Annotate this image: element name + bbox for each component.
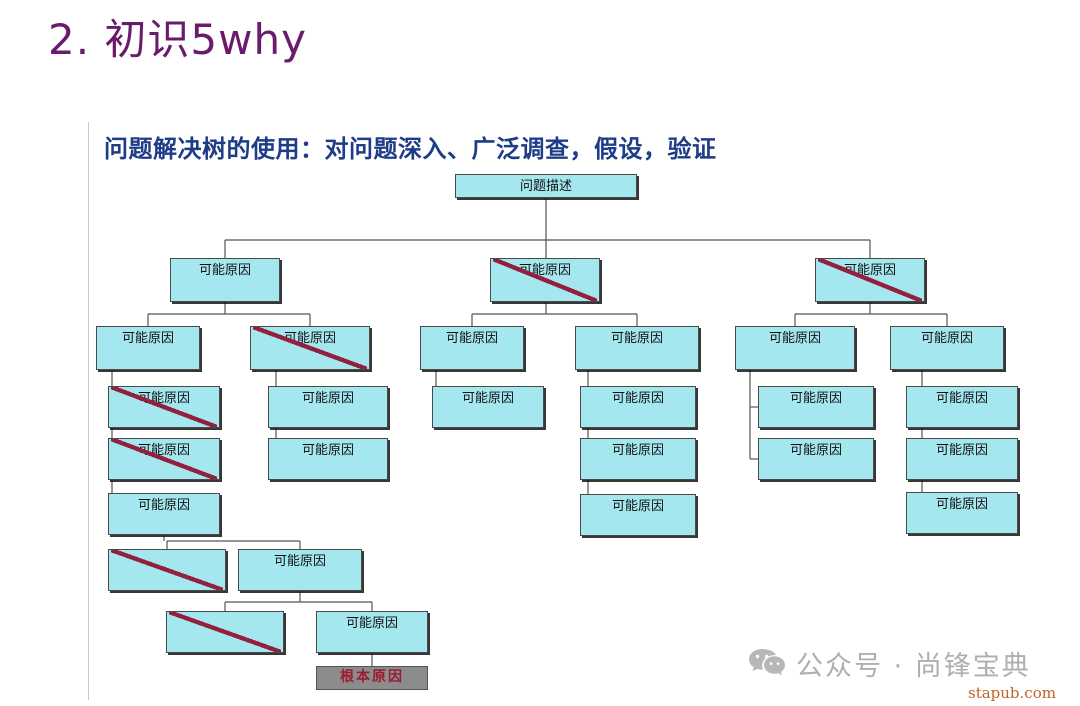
wechat-icon (748, 647, 786, 681)
node-label: 可能原因 (97, 331, 199, 346)
node-label: 可能原因 (421, 331, 523, 346)
possible-cause-node[interactable]: 可能原因 (170, 258, 280, 302)
node-label: 可能原因 (581, 443, 695, 458)
possible-cause-node[interactable]: 可能原因 (580, 494, 696, 536)
node-label: 可能原因 (907, 391, 1017, 406)
possible-cause-node[interactable]: 可能原因 (238, 549, 362, 591)
possible-cause-node[interactable]: 可能原因 (420, 326, 524, 370)
possible-cause-node[interactable]: 可能原因 (268, 438, 388, 480)
possible-cause-node[interactable]: 可能原因 (432, 386, 544, 428)
possible-cause-node[interactable]: 可能原因 (108, 493, 220, 535)
site-url-text: stapub.com (968, 684, 1056, 702)
possible-cause-node[interactable]: 可能原因 (316, 611, 428, 653)
node-label: 可能原因 (907, 443, 1017, 458)
node-label: 可能原因 (491, 263, 599, 278)
watermark: 公众号 · 尚锋宝典 (748, 644, 1031, 683)
node-label: 可能原因 (239, 554, 361, 569)
possible-cause-node[interactable]: 可能原因 (815, 258, 925, 302)
node-label: 可能原因 (816, 263, 924, 278)
node-label: 可能原因 (109, 443, 219, 458)
node-label: 可能原因 (581, 391, 695, 406)
possible-cause-node[interactable]: 可能原因 (268, 386, 388, 428)
node-label: 可能原因 (581, 499, 695, 514)
node-label: 可能原因 (171, 263, 279, 278)
node-label: 可能原因 (433, 391, 543, 406)
possible-cause-node[interactable]: 可能原因 (906, 386, 1018, 428)
node-label: 可能原因 (891, 331, 1003, 346)
node-label: 可能原因 (269, 443, 387, 458)
possible-cause-node[interactable]: 可能原因 (758, 438, 874, 480)
node-label: 可能原因 (736, 331, 854, 346)
problem-solving-tree-diagram: 问题描述可能原因可能原因可能原因可能原因可能原因可能原因可能原因可能原因可能原因… (0, 0, 1080, 706)
node-label: 可能原因 (759, 443, 873, 458)
node-label: 可能原因 (576, 331, 698, 346)
possible-cause-node[interactable]: 可能原因 (906, 438, 1018, 480)
possible-cause-node[interactable]: 可能原因 (108, 438, 220, 480)
possible-cause-node[interactable]: 可能原因 (490, 258, 600, 302)
root-cause-node[interactable]: 根本原因 (316, 666, 428, 690)
node-label: 可能原因 (109, 391, 219, 406)
node-label: 问题描述 (456, 179, 636, 194)
node-label: 可能原因 (269, 391, 387, 406)
possible-cause-node[interactable]: 可能原因 (580, 438, 696, 480)
node-label: 可能原因 (907, 497, 1017, 512)
possible-cause-node[interactable]: 可能原因 (906, 492, 1018, 534)
possible-cause-node[interactable]: 可能原因 (580, 386, 696, 428)
possible-cause-node[interactable]: 可能原因 (735, 326, 855, 370)
possible-cause-node[interactable]: 可能原因 (890, 326, 1004, 370)
problem-statement-node[interactable]: 问题描述 (455, 174, 637, 198)
possible-cause-node[interactable]: 可能原因 (250, 326, 370, 370)
possible-cause-node[interactable] (108, 549, 226, 591)
possible-cause-node[interactable]: 可能原因 (575, 326, 699, 370)
node-label: 可能原因 (317, 616, 427, 631)
possible-cause-node[interactable]: 可能原因 (758, 386, 874, 428)
node-label: 可能原因 (109, 498, 219, 513)
node-label: 可能原因 (759, 391, 873, 406)
possible-cause-node[interactable] (166, 611, 284, 653)
possible-cause-node[interactable]: 可能原因 (96, 326, 200, 370)
possible-cause-node[interactable]: 可能原因 (108, 386, 220, 428)
node-label: 可能原因 (251, 331, 369, 346)
node-label: 根本原因 (317, 670, 427, 685)
watermark-text: 公众号 · 尚锋宝典 (796, 644, 1031, 683)
